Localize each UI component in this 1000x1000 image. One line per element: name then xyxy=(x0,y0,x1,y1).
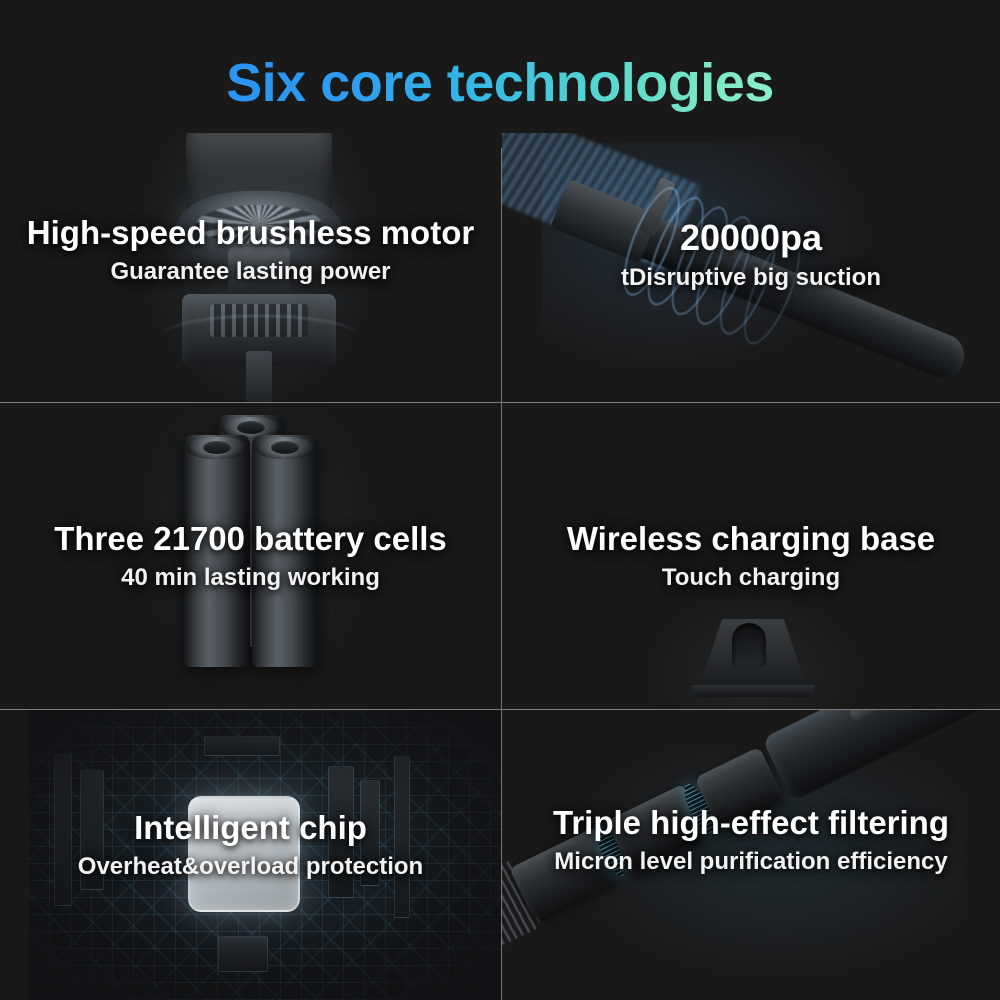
feature-headline: Wireless charging base xyxy=(502,521,1000,558)
grid-divider-vertical xyxy=(501,148,502,402)
feature-cell-wireless-charging: Wireless charging base Touch charging xyxy=(502,403,1000,709)
feature-cell-triple-filtering: Triple high-effect filtering Micron leve… xyxy=(502,710,1000,1000)
filter-assembly-illustration xyxy=(502,710,1000,1000)
grid-divider-horizontal xyxy=(0,709,1000,710)
charging-base-slot-icon xyxy=(732,623,766,667)
page-title-text: Six core technologies xyxy=(226,52,774,114)
page-title: Six core technologies xyxy=(0,52,1000,122)
battery-cell-icon xyxy=(252,435,318,667)
circuit-board-vignette xyxy=(28,710,501,1000)
suction-nozzle-illustration xyxy=(502,133,1000,402)
battery-cells-illustration xyxy=(176,415,336,690)
feature-cell-brushless-motor: High-speed brushless motor Guarantee las… xyxy=(0,133,501,402)
feature-cell-battery-cells: Three 21700 battery cells 40 min lasting… xyxy=(0,403,501,709)
grid-divider-vertical xyxy=(501,710,502,1000)
feature-caption-wireless-charging: Wireless charging base Touch charging xyxy=(502,521,1000,593)
product-feature-infographic: Six core technologies High-speed brushle… xyxy=(0,0,1000,1000)
grid-divider-horizontal xyxy=(0,402,1000,403)
circuit-board-chip-illustration xyxy=(28,710,501,1000)
feature-cell-intelligent-chip: Intelligent chip Overheat&overload prote… xyxy=(0,710,501,1000)
feature-subline: Touch charging xyxy=(502,564,1000,593)
charging-base-illustration xyxy=(688,611,818,709)
feature-cell-suction-power: 20000pa tDisruptive big suction xyxy=(502,133,1000,402)
motor-illustration xyxy=(168,133,348,402)
feature-grid: High-speed brushless motor Guarantee las… xyxy=(0,133,1000,1000)
battery-cell-icon xyxy=(184,435,250,667)
grid-divider-vertical xyxy=(501,403,502,709)
motor-shaft-icon xyxy=(246,351,272,402)
charging-base-foot-icon xyxy=(692,685,814,697)
